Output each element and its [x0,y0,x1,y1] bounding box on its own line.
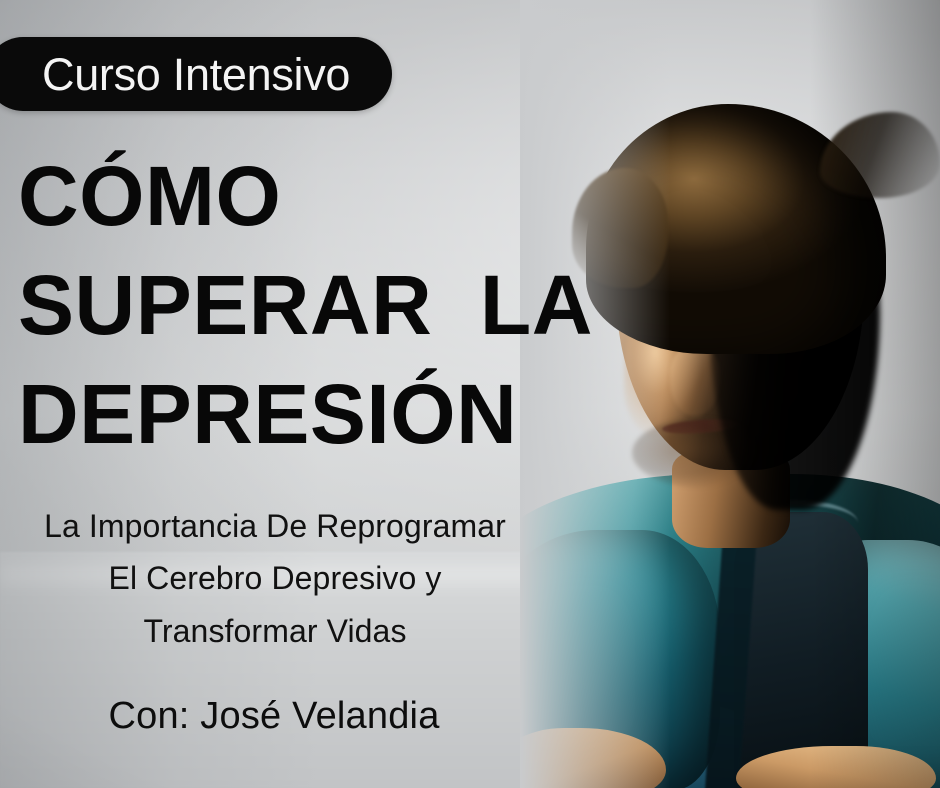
course-type-badge-label: Curso Intensivo [42,52,350,97]
presenter-label: Con: José Velandia [14,694,534,740]
headline-block: CÓMO SUPERAR LA DEPRESIÓN [18,142,638,470]
headline-line-3: DEPRESIÓN [18,360,638,469]
subtitle-line-1: La Importancia De Reprogramar [10,500,540,552]
subtitle-line-3: Transformar Vidas [10,605,540,657]
headline-line-1: CÓMO [18,142,638,251]
poster-content: Curso Intensivo CÓMO SUPERAR LA DEPRESIÓ… [0,0,940,788]
presenter-block: Con: José Velandia [14,694,534,740]
poster-canvas: Curso Intensivo CÓMO SUPERAR LA DEPRESIÓ… [0,0,940,788]
course-type-badge: Curso Intensivo [0,37,392,111]
subtitle-block: La Importancia De Reprogramar El Cerebro… [10,500,540,657]
headline-line-2: SUPERAR LA [18,251,638,360]
subtitle-line-2: El Cerebro Depresivo y [10,552,540,604]
